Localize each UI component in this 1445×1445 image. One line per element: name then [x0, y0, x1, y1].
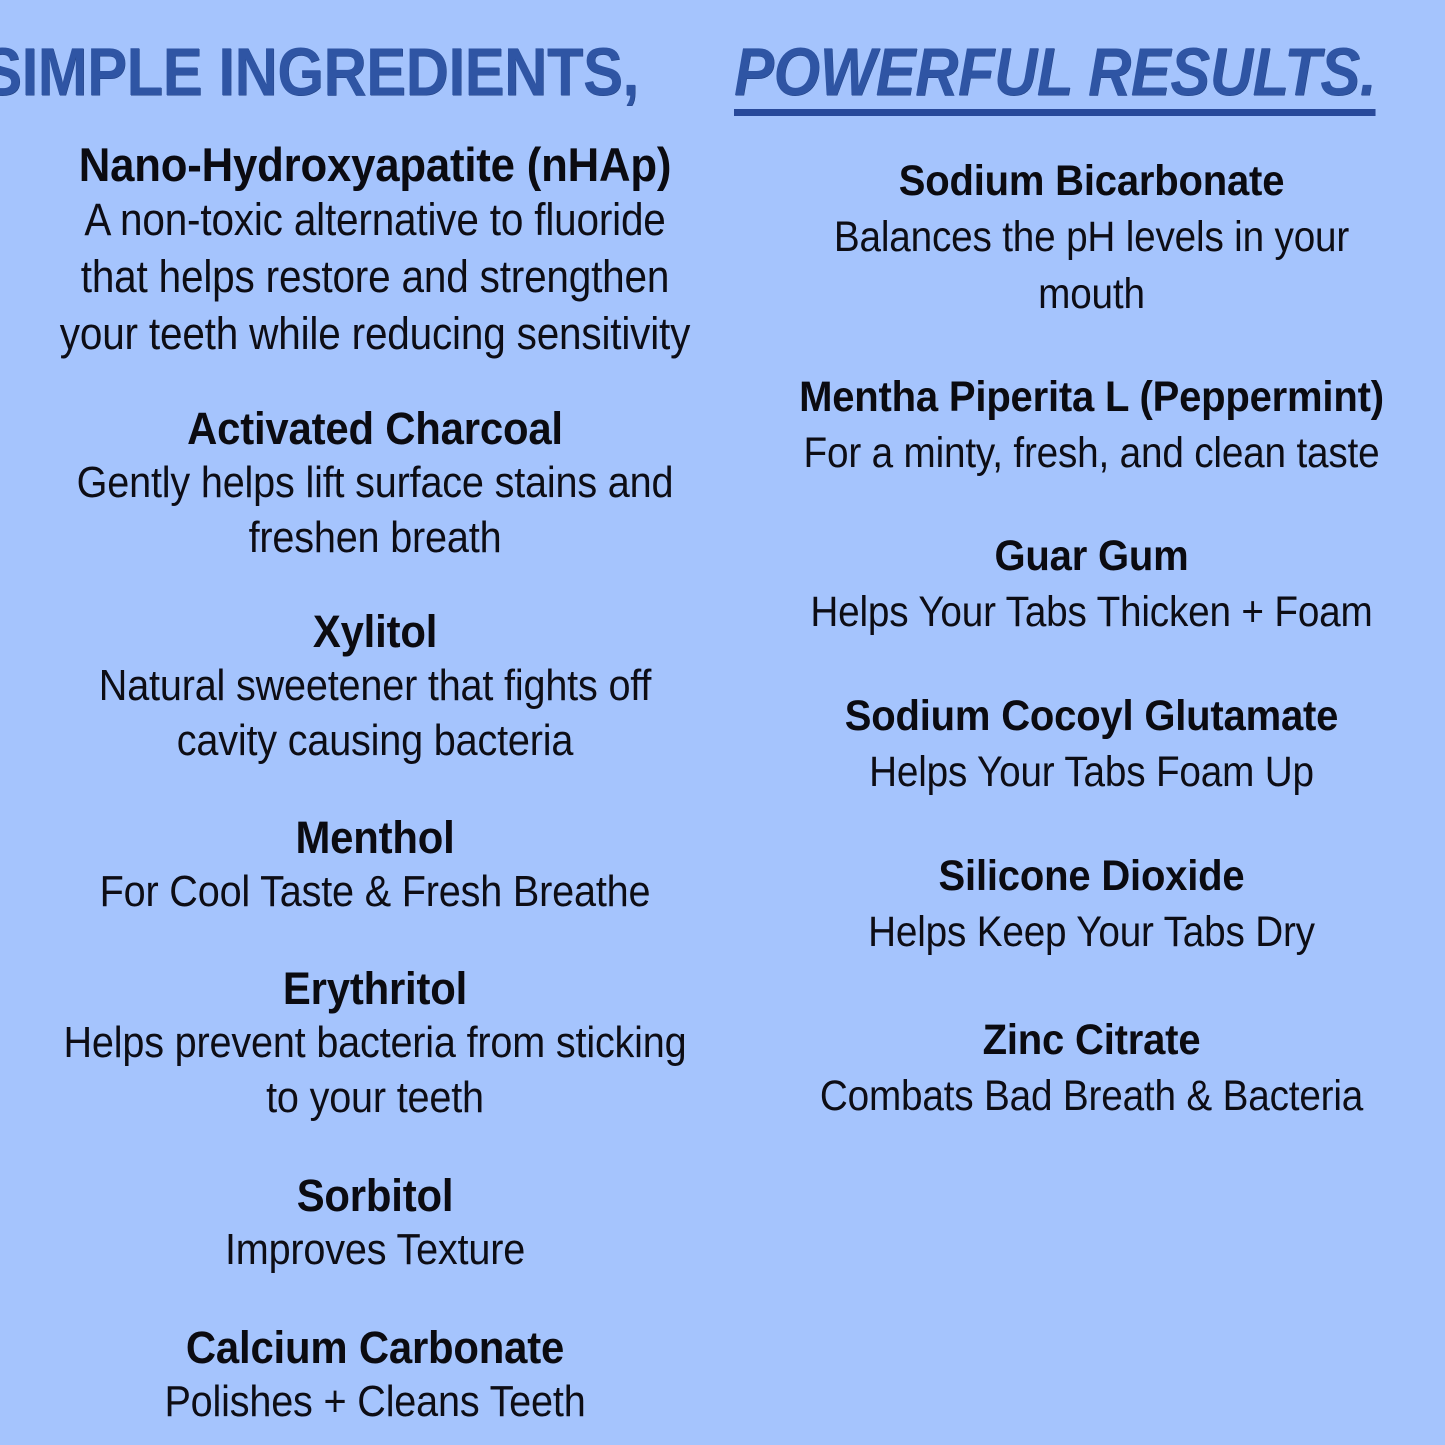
- page-title-plain: SIMPLE INGREDIENTS,: [0, 38, 638, 106]
- ingredient-name: Activated Charcoal: [36, 402, 715, 455]
- ingredient-item: Menthol For Cool Taste & Fresh Breathe: [10, 811, 740, 919]
- ingredient-item: Sodium Cocoyl Glutamate Helps Your Tabs …: [754, 689, 1429, 801]
- ingredient-item: Guar Gum Helps Your Tabs Thicken + Foam: [754, 529, 1429, 641]
- ingredient-name: Nano-Hydroxyapatite (nHAp): [36, 138, 715, 191]
- ingredient-description: For a minty, fresh, and clean taste: [788, 425, 1396, 482]
- ingredient-description: Combats Bad Breath & Bacteria: [788, 1068, 1396, 1125]
- ingredient-name: Menthol: [36, 811, 715, 864]
- ingredient-item: Calcium Carbonate Polishes + Cleans Teet…: [10, 1321, 740, 1429]
- ingredient-name: Zinc Citrate: [778, 1013, 1406, 1068]
- ingredient-description: Helps Your Tabs Thicken + Foam: [788, 584, 1396, 641]
- ingredient-item: Sorbitol Improves Texture: [10, 1169, 740, 1277]
- ingredient-item: Sodium Bicarbonate Balances the pH level…: [754, 154, 1429, 323]
- ingredient-columns: Nano-Hydroxyapatite (nHAp) A non-toxic a…: [0, 136, 1445, 1445]
- ingredient-item: Nano-Hydroxyapatite (nHAp) A non-toxic a…: [10, 138, 740, 362]
- ingredient-description: Balances the pH levels in your mouth: [788, 209, 1396, 323]
- ingredient-description: Helps Keep Your Tabs Dry: [788, 904, 1396, 961]
- ingredients-infographic: SIMPLE INGREDIENTS, POWERFUL RESULTS. Na…: [0, 0, 1445, 1445]
- ingredient-item: Erythritol Helps prevent bacteria from s…: [10, 962, 740, 1125]
- ingredient-item: Activated Charcoal Gently helps lift sur…: [10, 402, 740, 565]
- ingredient-name: Calcium Carbonate: [36, 1321, 715, 1374]
- ingredient-description: Polishes + Cleans Teeth: [47, 1374, 704, 1429]
- ingredient-description: Helps Your Tabs Foam Up: [788, 744, 1396, 801]
- ingredient-name: Silicone Dioxide: [778, 849, 1406, 904]
- ingredient-item: Xylitol Natural sweetener that fights of…: [10, 605, 740, 768]
- ingredient-description: Improves Texture: [47, 1222, 704, 1277]
- ingredient-name: Sodium Cocoyl Glutamate: [778, 689, 1406, 744]
- ingredient-item: Mentha Piperita L (Peppermint) For a min…: [754, 370, 1429, 482]
- ingredient-name: Sodium Bicarbonate: [778, 154, 1406, 209]
- ingredient-description: Natural sweetener that fights off cavity…: [47, 658, 704, 768]
- ingredient-item: Silicone Dioxide Helps Keep Your Tabs Dr…: [754, 849, 1429, 961]
- ingredient-name: Mentha Piperita L (Peppermint): [778, 370, 1406, 425]
- page-title-accent: POWERFUL RESULTS.: [734, 38, 1376, 116]
- ingredient-name: Guar Gum: [778, 529, 1406, 584]
- page-title: SIMPLE INGREDIENTS, POWERFUL RESULTS.: [0, 38, 1445, 118]
- ingredient-name: Erythritol: [36, 962, 715, 1015]
- ingredient-description: Gently helps lift surface stains and fre…: [47, 455, 704, 565]
- ingredient-column-right: Sodium Bicarbonate Balances the pH level…: [748, 136, 1445, 1125]
- ingredient-description: A non-toxic alternative to fluoride that…: [47, 191, 704, 362]
- ingredient-description: Helps prevent bacteria from sticking to …: [47, 1015, 704, 1125]
- ingredient-item: Zinc Citrate Combats Bad Breath & Bacter…: [754, 1013, 1429, 1125]
- ingredient-name: Sorbitol: [36, 1169, 715, 1222]
- ingredient-column-left: Nano-Hydroxyapatite (nHAp) A non-toxic a…: [0, 136, 748, 1429]
- ingredient-name: Xylitol: [36, 605, 715, 658]
- ingredient-description: For Cool Taste & Fresh Breathe: [47, 864, 704, 919]
